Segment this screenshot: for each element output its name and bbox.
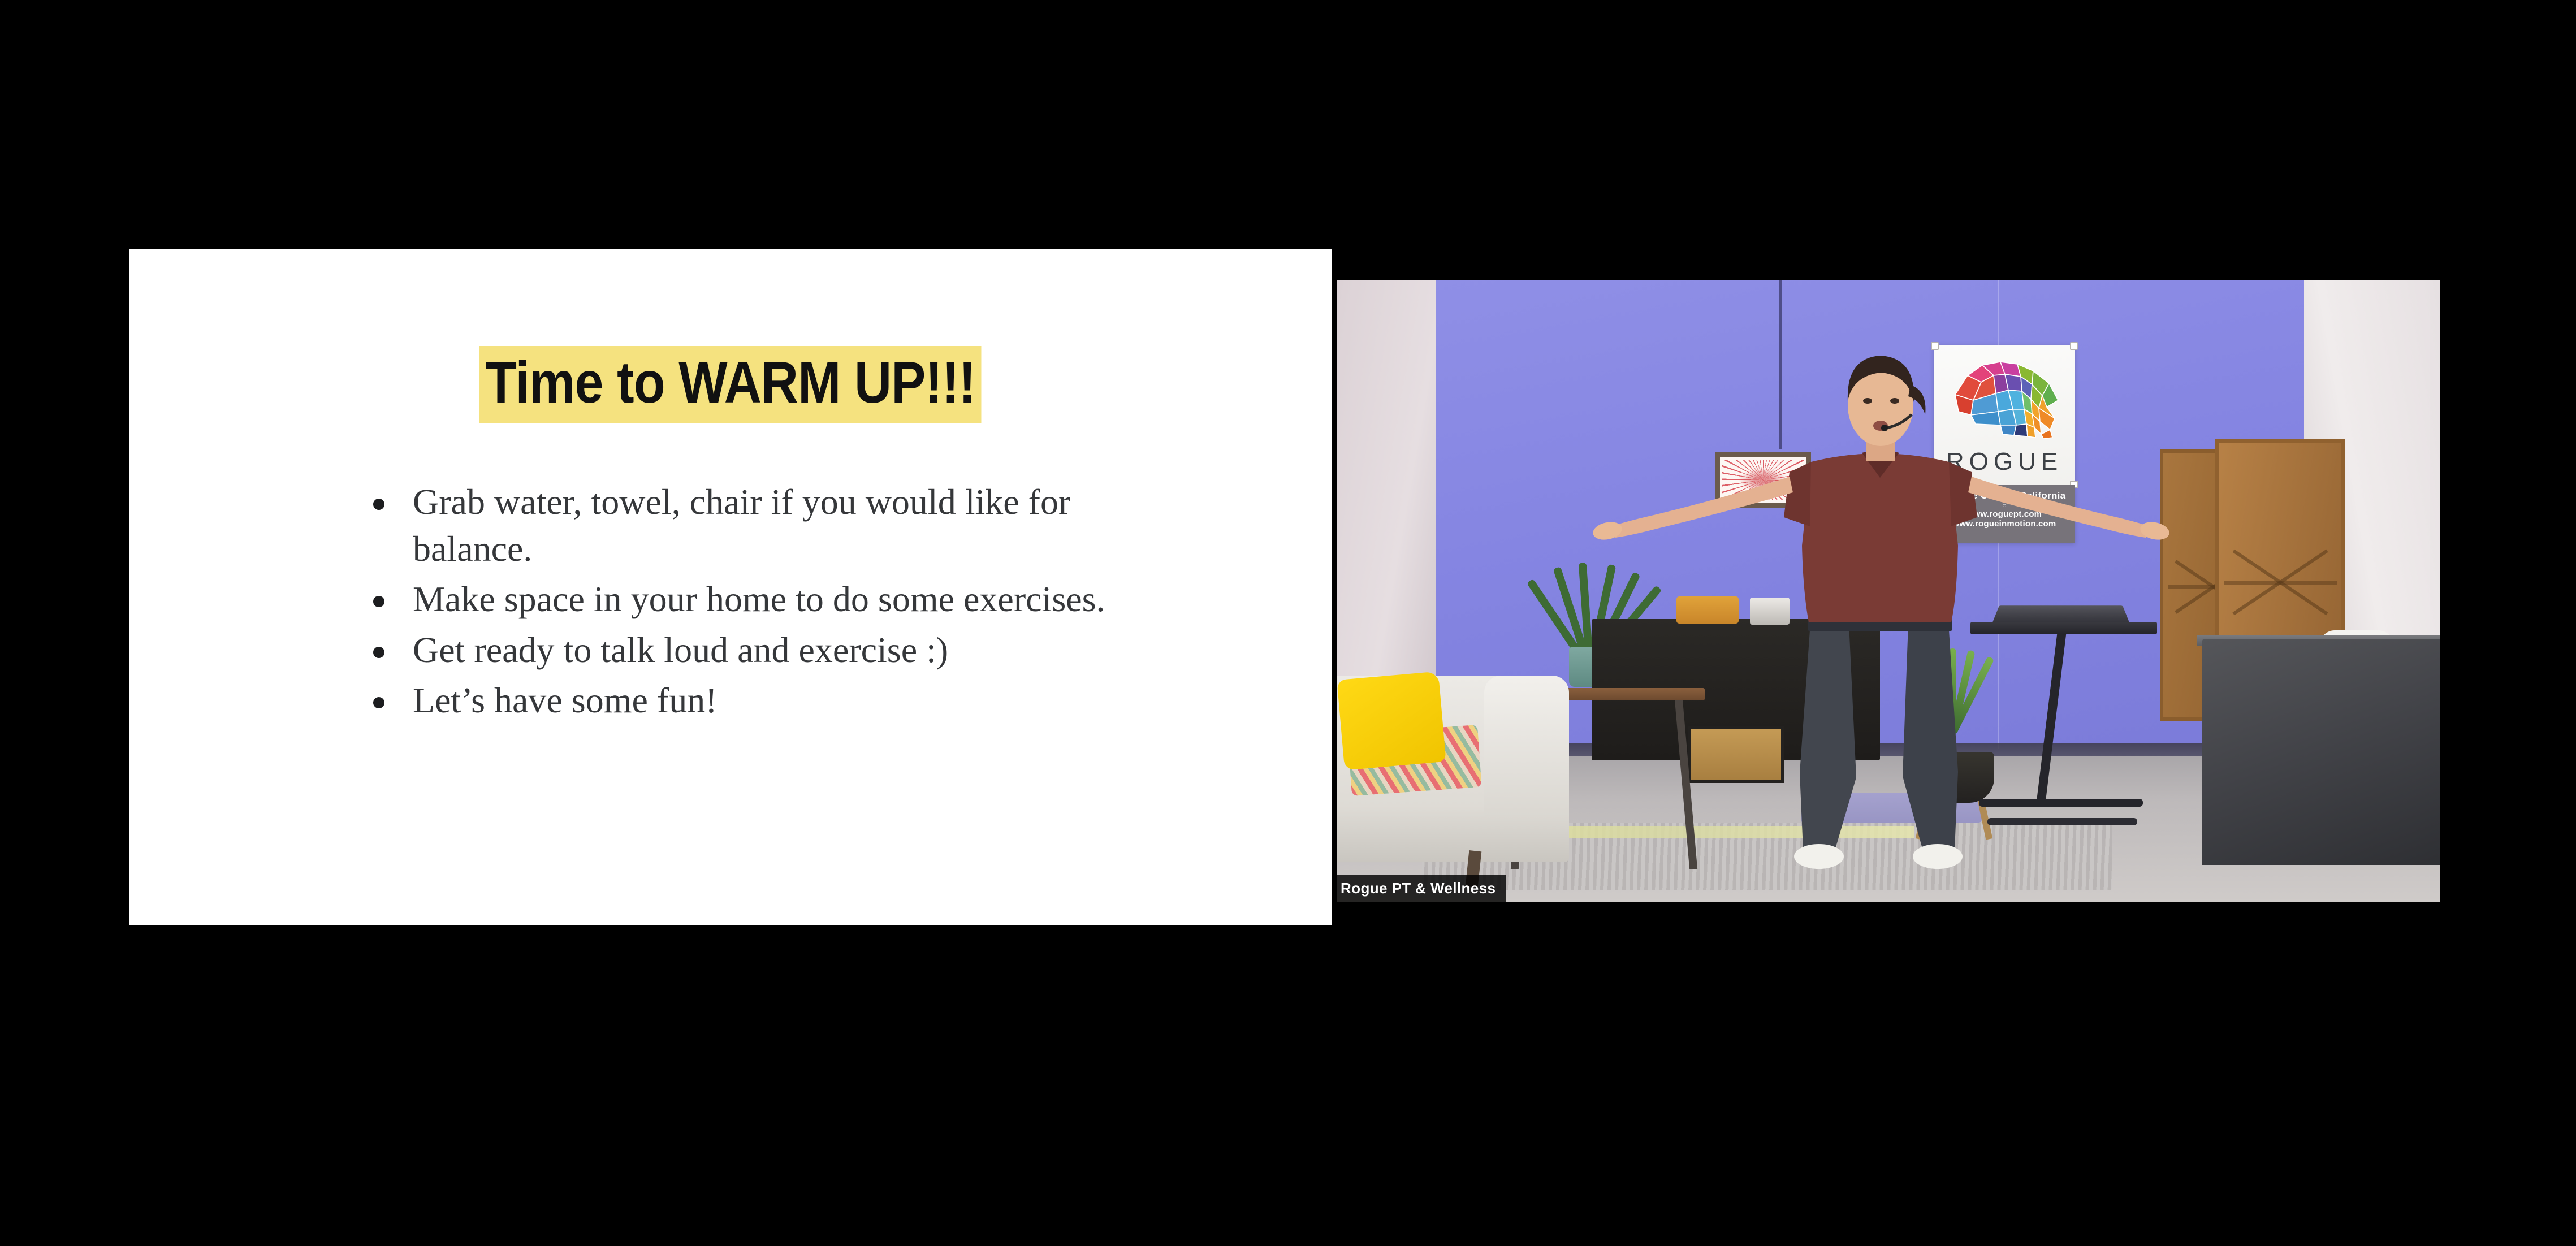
slide-title-container: Time to WARM UP!!! xyxy=(129,346,1332,423)
list-item: Get ready to talk loud and exercise :) xyxy=(361,626,1164,673)
list-item: Make space in your home to do some exerc… xyxy=(361,576,1164,622)
instructor-figure xyxy=(1337,280,2440,902)
page-title: Time to WARM UP!!! xyxy=(479,346,982,423)
list-item: Grab water, towel, chair if you would li… xyxy=(361,478,1164,572)
presentation-stage: Time to WARM UP!!! Grab water, towel, ch… xyxy=(0,0,2576,1246)
webcam-video-panel[interactable]: ROGUE Orange County, California ○ www.ro… xyxy=(1337,280,2440,902)
slide-panel: Time to WARM UP!!! Grab water, towel, ch… xyxy=(129,249,1332,925)
video-watermark: Rogue PT & Wellness xyxy=(1337,875,1506,902)
list-item: Let’s have some fun! xyxy=(361,677,1164,724)
slide-bullet-list: Grab water, towel, chair if you would li… xyxy=(361,478,1164,727)
